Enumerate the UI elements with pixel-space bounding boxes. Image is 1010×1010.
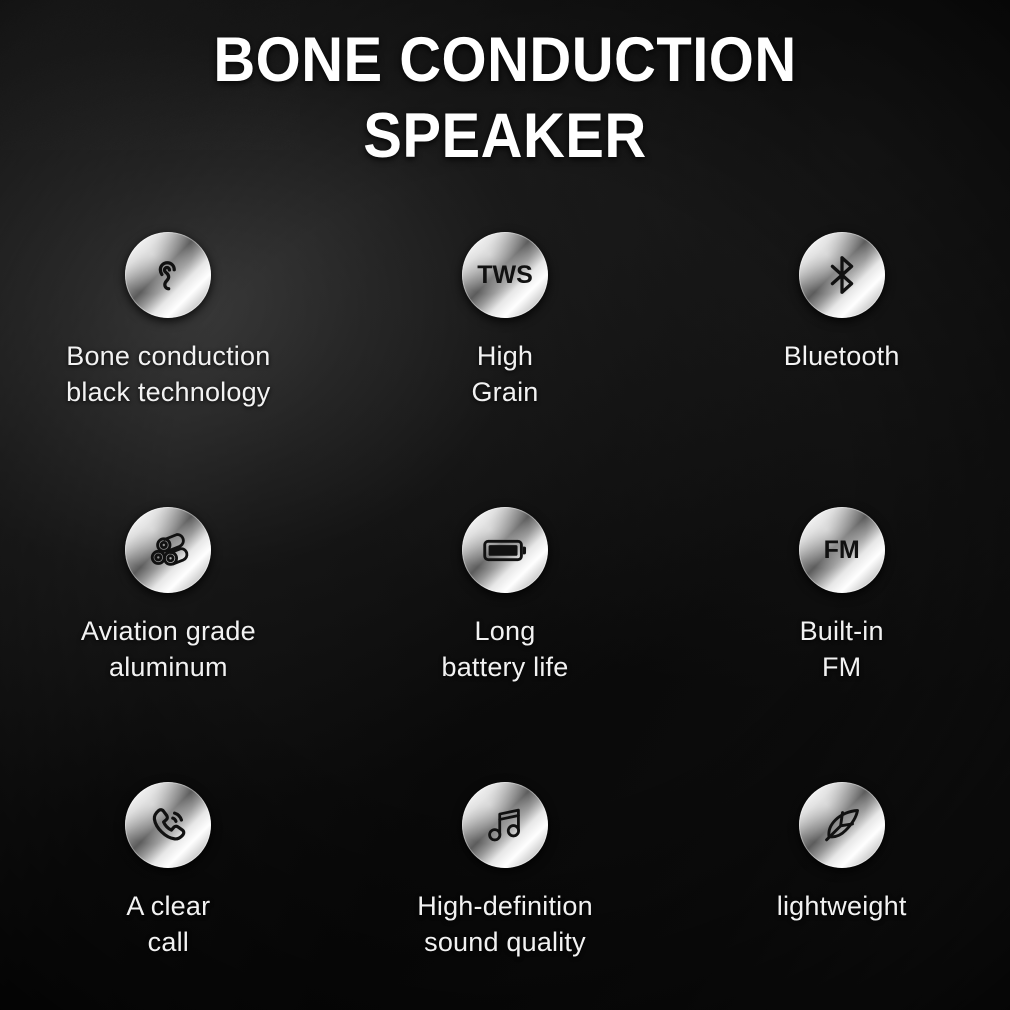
feature-label: Bluetooth [784, 338, 900, 374]
tws-badge-icon: TWS [477, 263, 533, 288]
feature-icon-disc [125, 782, 211, 868]
feature-label: A clear call [126, 888, 210, 960]
feature-label: Aviation grade aluminum [81, 613, 256, 685]
aluminum-tubes-icon [144, 526, 192, 574]
feature-item-high-grain: TWS High Grain [337, 232, 674, 507]
feature-icon-disc [799, 232, 885, 318]
phone-call-icon [144, 801, 192, 849]
feature-label: lightweight [777, 888, 907, 924]
feature-item-aviation-aluminum: Aviation grade aluminum [0, 507, 337, 782]
feature-icon-disc [462, 782, 548, 868]
feature-icon-disc [462, 507, 548, 593]
feature-item-bluetooth: Bluetooth [673, 232, 1010, 507]
title-line-2: SPEAKER [40, 98, 969, 174]
feature-item-built-in-fm: FM Built-in FM [673, 507, 1010, 782]
page-title: BONE CONDUCTION SPEAKER [0, 22, 1010, 174]
bluetooth-icon [819, 252, 865, 298]
feature-icon-disc [125, 232, 211, 318]
feature-icon-disc: TWS [462, 232, 548, 318]
ear-icon [145, 252, 191, 298]
battery-icon [478, 523, 532, 577]
feature-grid: Bone conduction black technology TWS Hig… [0, 232, 1010, 1010]
product-feature-poster: BONE CONDUCTION SPEAKER Bone conduction … [0, 0, 1010, 1010]
feature-label: Built-in FM [800, 613, 884, 685]
fm-badge-icon: FM [824, 538, 860, 563]
feature-item-clear-call: A clear call [0, 782, 337, 1010]
feather-icon [818, 801, 866, 849]
feature-icon-disc [799, 782, 885, 868]
feature-label: High Grain [471, 338, 538, 410]
feature-item-sound-quality: High-definition sound quality [337, 782, 674, 1010]
feature-label: Long battery life [442, 613, 569, 685]
feature-item-battery-life: Long battery life [337, 507, 674, 782]
feature-icon-disc: FM [799, 507, 885, 593]
feature-item-bone-conduction: Bone conduction black technology [0, 232, 337, 507]
feature-label: High-definition sound quality [417, 888, 593, 960]
music-note-icon [482, 802, 528, 848]
feature-icon-disc [125, 507, 211, 593]
title-line-1: BONE CONDUCTION [40, 22, 969, 98]
feature-item-lightweight: lightweight [673, 782, 1010, 1010]
feature-label: Bone conduction black technology [66, 338, 270, 410]
